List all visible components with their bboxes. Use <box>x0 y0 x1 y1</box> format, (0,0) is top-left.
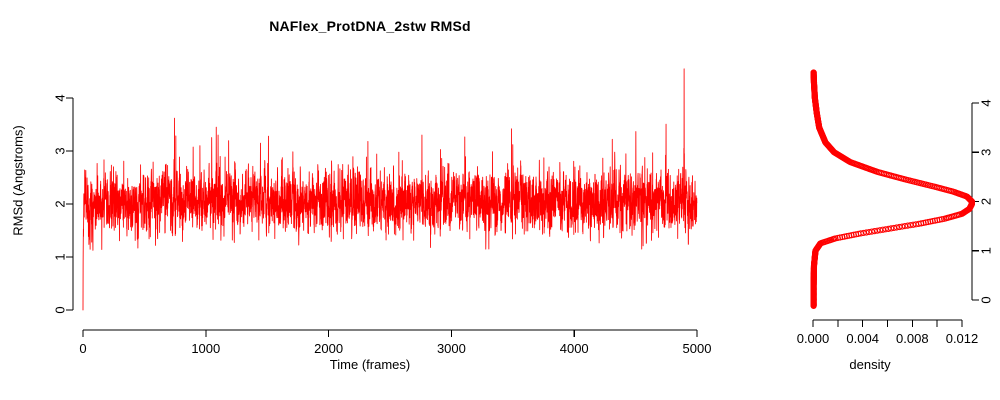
timeseries-y-axis-label: RMSd (Angstroms) <box>11 71 26 291</box>
density-y-tick-label: 3 <box>979 149 994 156</box>
page-title: NAFlex_ProtDNA_2stw RMSd <box>0 18 740 34</box>
timeseries-y-tick-label: 4 <box>53 94 68 101</box>
density-x-tick-label: 0.008 <box>896 331 929 346</box>
timeseries-y-tick-label: 2 <box>53 200 68 207</box>
timeseries-panel: 01234010002000300040005000 Time (frames)… <box>0 55 740 400</box>
density-curve <box>811 70 975 309</box>
timeseries-x-tick-label: 4000 <box>560 341 589 355</box>
timeseries-x-tick-label: 0 <box>79 341 86 355</box>
timeseries-y-tick-label: 0 <box>53 306 68 313</box>
timeseries-plot: 01234010002000300040005000 <box>0 55 740 355</box>
timeseries-y-tick-label: 1 <box>53 253 68 260</box>
timeseries-x-tick-label: 5000 <box>683 341 712 355</box>
density-plot: 012340.0000.0040.0080.012 <box>740 55 1000 355</box>
density-x-axis-label: density <box>740 357 1000 372</box>
density-x-tick-label: 0.012 <box>946 331 979 346</box>
rmsd-figure: NAFlex_ProtDNA_2stw RMSd 012340100020003… <box>0 0 1000 400</box>
rmsd-trajectory-line <box>83 69 697 310</box>
density-x-tick-label: 0.004 <box>846 331 879 346</box>
timeseries-x-tick-label: 3000 <box>437 341 466 355</box>
timeseries-x-axis-label: Time (frames) <box>0 357 740 372</box>
density-y-tick-label: 4 <box>979 99 994 106</box>
density-x-tick-label: 0.000 <box>797 331 830 346</box>
timeseries-x-tick-label: 1000 <box>191 341 220 355</box>
density-y-tick-label: 2 <box>979 198 994 205</box>
density-panel: 012340.0000.0040.0080.012 density <box>740 55 1000 400</box>
timeseries-x-tick-label: 2000 <box>314 341 343 355</box>
timeseries-y-tick-label: 3 <box>53 147 68 154</box>
density-y-tick-label: 1 <box>979 247 994 254</box>
density-y-tick-label: 0 <box>979 296 994 303</box>
